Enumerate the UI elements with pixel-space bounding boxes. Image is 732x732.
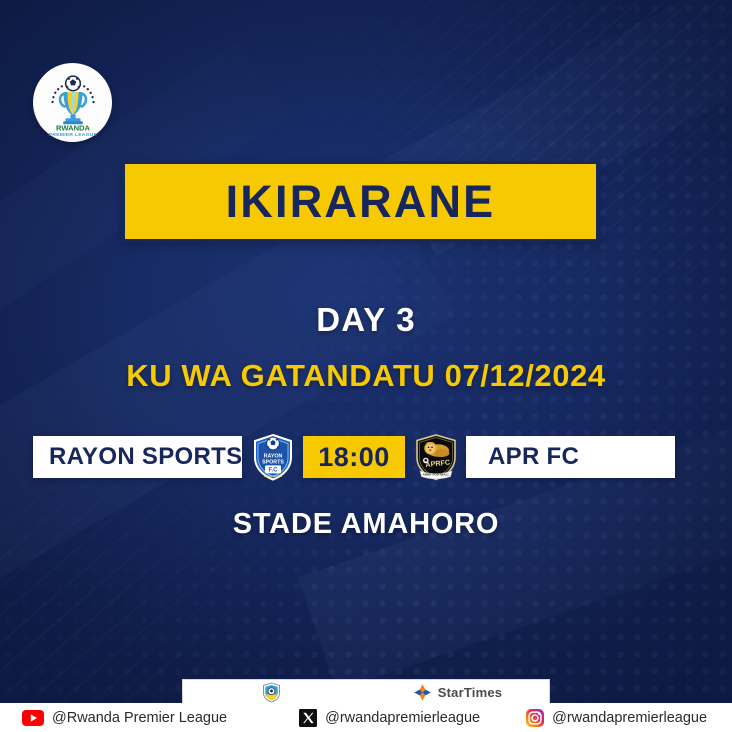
social-item-instagram[interactable]: @rwandapremierleague	[526, 703, 707, 732]
social-handle-x: @rwandapremierleague	[325, 710, 480, 726]
x-icon	[299, 709, 317, 727]
ferwafa-crest-icon	[262, 682, 281, 703]
venue-name: STADE AMAHORO	[0, 508, 732, 541]
away-team-name: APR FC	[488, 443, 579, 471]
league-logo: RWANDA PREMIER LEAGUE	[33, 63, 112, 142]
away-team-plate: APR FC	[466, 436, 675, 478]
svg-text:SPORTS: SPORTS	[262, 459, 284, 465]
match-poster: RWANDA PREMIER LEAGUE IKIRARANE DAY 3 KU…	[0, 0, 732, 732]
home-team-crest: RAYON SPORTS F.C BLUE BOYS	[249, 431, 296, 483]
social-item-youtube[interactable]: @Rwanda Premier League	[22, 703, 227, 732]
home-team-plate: RAYON SPORTS	[33, 436, 242, 478]
trophy-icon: RWANDA PREMIER LEAGUE	[36, 66, 110, 140]
kickoff-time-badge: 18:00	[303, 436, 405, 478]
rayon-sports-crest-icon: RAYON SPORTS F.C BLUE BOYS	[251, 432, 295, 482]
league-logo-name-line2: PREMIER LEAGUE	[48, 132, 97, 138]
apr-fc-crest-icon: APRFC ARMY FOOTBALL	[413, 432, 459, 482]
social-handle-instagram: @rwandapremierleague	[552, 710, 707, 726]
matchday-label: DAY 3	[0, 301, 732, 339]
fixture-row: RAYON SPORTS RAYON SPORTS F.C BLUE BOYS	[33, 431, 699, 483]
league-logo-name-line1: RWANDA	[55, 123, 90, 132]
swoosh-accent-1	[0, 185, 456, 625]
svg-text:ARMY FOOTBALL: ARMY FOOTBALL	[422, 472, 449, 476]
svg-text:F.C: F.C	[268, 468, 278, 474]
sponsor-startimes: StarTimes	[366, 680, 549, 704]
away-team-crest: APRFC ARMY FOOTBALL	[412, 431, 459, 483]
home-team-name: RAYON SPORTS	[49, 443, 242, 471]
sponsor-bar: StarTimes	[182, 679, 550, 705]
sponsor-startimes-label: StarTimes	[438, 685, 502, 700]
startimes-logo-icon	[413, 683, 432, 702]
title-banner: IKIRARANE	[122, 161, 599, 242]
youtube-icon	[22, 710, 44, 726]
match-date: KU WA GATANDATU 07/12/2024	[0, 358, 732, 394]
kickoff-time-text: 18:00	[318, 442, 390, 473]
sponsor-ferwafa	[183, 680, 366, 704]
social-item-x[interactable]: @rwandapremierleague	[299, 703, 480, 732]
social-handle-youtube: @Rwanda Premier League	[52, 710, 227, 726]
social-footer: @Rwanda Premier League @rwandapremierlea…	[0, 703, 732, 732]
instagram-icon	[526, 709, 544, 727]
title-banner-text: IKIRARANE	[226, 179, 496, 224]
svg-text:BLUE BOYS: BLUE BOYS	[263, 474, 281, 478]
